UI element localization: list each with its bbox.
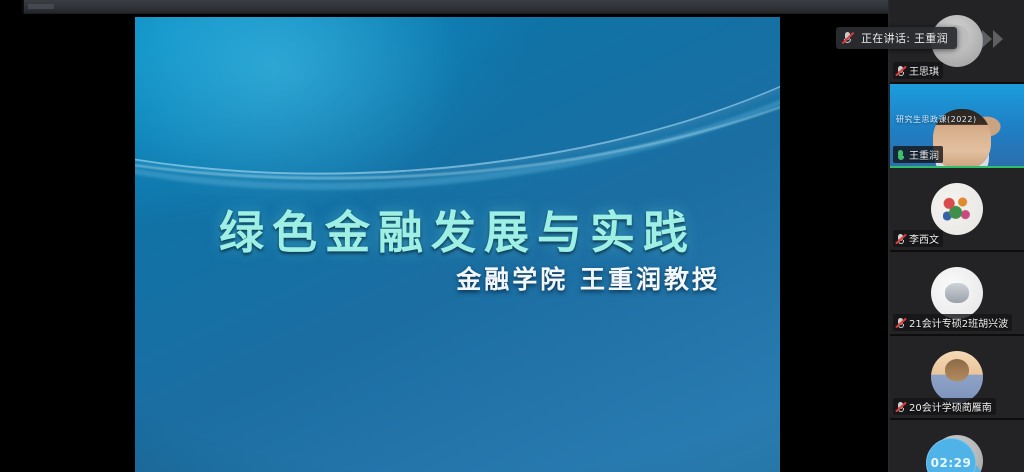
participant-tile[interactable]: 20会计学硕蔺雁南 [890, 336, 1024, 420]
participant-tile[interactable]: 李西文 [890, 168, 1024, 252]
participant-name-chip: 20会计学硕蔺雁南 [893, 398, 996, 415]
participant-name: 20会计学硕蔺雁南 [909, 399, 992, 414]
collapse-panel-chevrons[interactable] [982, 30, 1003, 48]
chevron-right-icon [993, 30, 1003, 48]
shared-screen-stage: 绿色金融发展与实践 金融学院 王重润教授 [0, 14, 890, 472]
participant-filmstrip[interactable]: 王思琪 研究生思政课(2022) 王重润 李西文 [890, 0, 1024, 472]
participant-name: 李西文 [909, 231, 939, 246]
currently-speaking-label: 正在讲话: 王重润 [861, 30, 948, 46]
mic-muted-icon [895, 317, 906, 329]
presentation-slide: 绿色金融发展与实践 金融学院 王重润教授 [135, 17, 780, 472]
chevron-right-icon [982, 30, 992, 48]
participant-name-chip: 李西文 [893, 230, 943, 247]
video-background-caption: 研究生思政课(2022) [896, 114, 977, 125]
avatar [931, 183, 983, 235]
participant-name: 21会计专硕2班胡兴波 [909, 315, 1008, 330]
mic-muted-icon [895, 233, 906, 245]
participant-name-chip: 王重润 [893, 146, 943, 163]
mic-muted-icon [895, 401, 906, 413]
participant-name: 王重润 [909, 147, 939, 162]
participant-name: 王思琪 [909, 63, 939, 78]
mic-muted-icon [895, 65, 906, 77]
slide-subtitle: 金融学院 王重润教授 [456, 260, 720, 296]
participant-name-chip: 21会计专硕2班胡兴波 [893, 314, 1012, 331]
window-toolbar [22, 0, 892, 14]
toolbar-handle[interactable] [28, 4, 54, 9]
participant-tile[interactable]: 21会计专硕2班胡兴波 [890, 252, 1024, 336]
avatar [931, 267, 983, 319]
mic-muted-icon [841, 31, 854, 45]
currently-speaking-banner: 正在讲话: 王重润 [836, 27, 957, 49]
mic-on-icon [895, 149, 906, 161]
participant-name-chip: 王思琪 [893, 62, 943, 79]
toolbar-left-edge [22, 0, 24, 14]
slide-title: 绿色金融发展与实践 [135, 196, 780, 261]
avatar [931, 351, 983, 403]
conference-window: 绿色金融发展与实践 金融学院 王重润教授 王思琪 研究生思政课(2022) [0, 0, 1024, 472]
participant-tile[interactable]: 02:29 [890, 420, 1024, 472]
participant-tile-active-speaker[interactable]: 研究生思政课(2022) 王重润 [890, 84, 1024, 168]
